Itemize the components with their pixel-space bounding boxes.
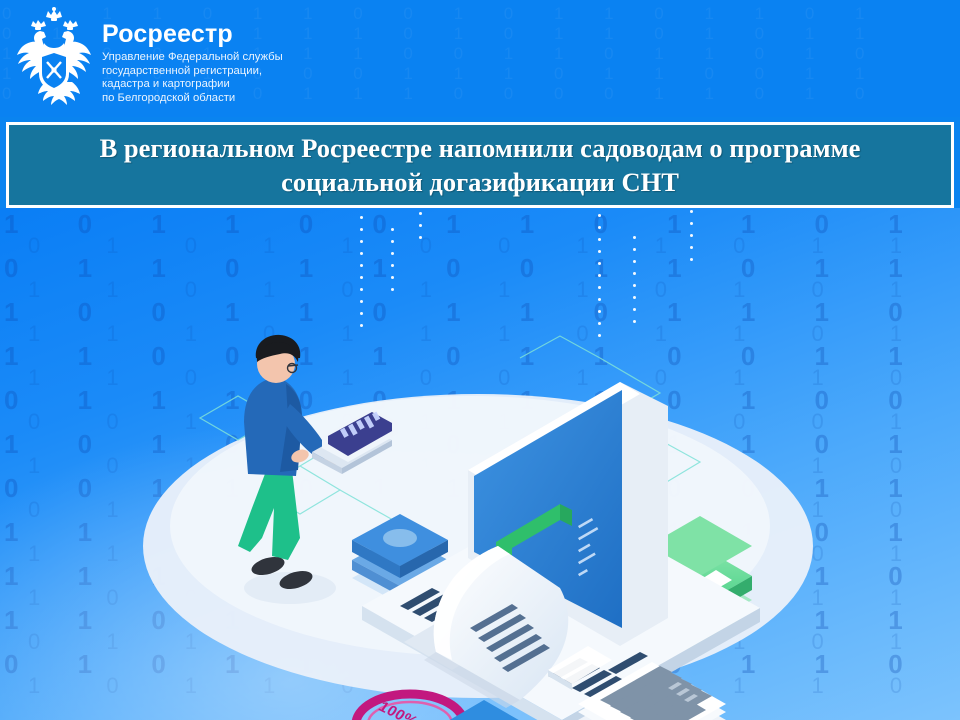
poster-root: 0 1 1 1 0 1 1 0 0 1 0 1 1 0 1 1 0 1 0 1 …	[0, 0, 960, 720]
site-header: 0 1 1 1 0 1 1 0 0 1 0 1 1 0 1 1 0 1 0 1 …	[0, 0, 960, 117]
brand-title: Росреестр	[102, 20, 283, 48]
headline-text: В региональном Росреестре напомнили садо…	[100, 131, 861, 199]
isometric-scene	[0, 208, 960, 720]
data-stream-dots-1	[360, 216, 363, 336]
brand-block: Росреестр Управление Федеральной службы …	[102, 20, 283, 105]
data-stream-dots-4	[598, 214, 601, 346]
headline-banner-frame: В региональном Росреестре напомнили садо…	[6, 122, 954, 208]
data-stream-dots-3	[419, 212, 422, 248]
brand-subtitle-line-1: Управление Федеральной службы	[102, 51, 283, 65]
brand-subtitle: Управление Федеральной службы государств…	[102, 51, 283, 105]
headline-banner: В региональном Росреестре напомнили садо…	[9, 125, 951, 205]
data-stream-dots-5	[633, 236, 636, 332]
brand-subtitle-line-2: государственной регистрации,	[102, 65, 283, 79]
brand-subtitle-line-4: по Белгородской области	[102, 92, 283, 106]
illustration-stage: 1 0 1 1 0 0 1 1 0 1 1 0 1 0 1 1 0 1 0 1 …	[0, 208, 960, 720]
headline-line-2: социальной догазификации СНТ	[100, 165, 861, 199]
headline-line-1: В региональном Росреестре напомнили садо…	[100, 131, 861, 165]
data-stream-dots-2	[391, 228, 394, 300]
russian-double-headed-eagle-emblem	[10, 6, 98, 110]
data-stream-dots-6	[690, 210, 693, 270]
brand-subtitle-line-3: кадастра и картографии	[102, 78, 283, 92]
